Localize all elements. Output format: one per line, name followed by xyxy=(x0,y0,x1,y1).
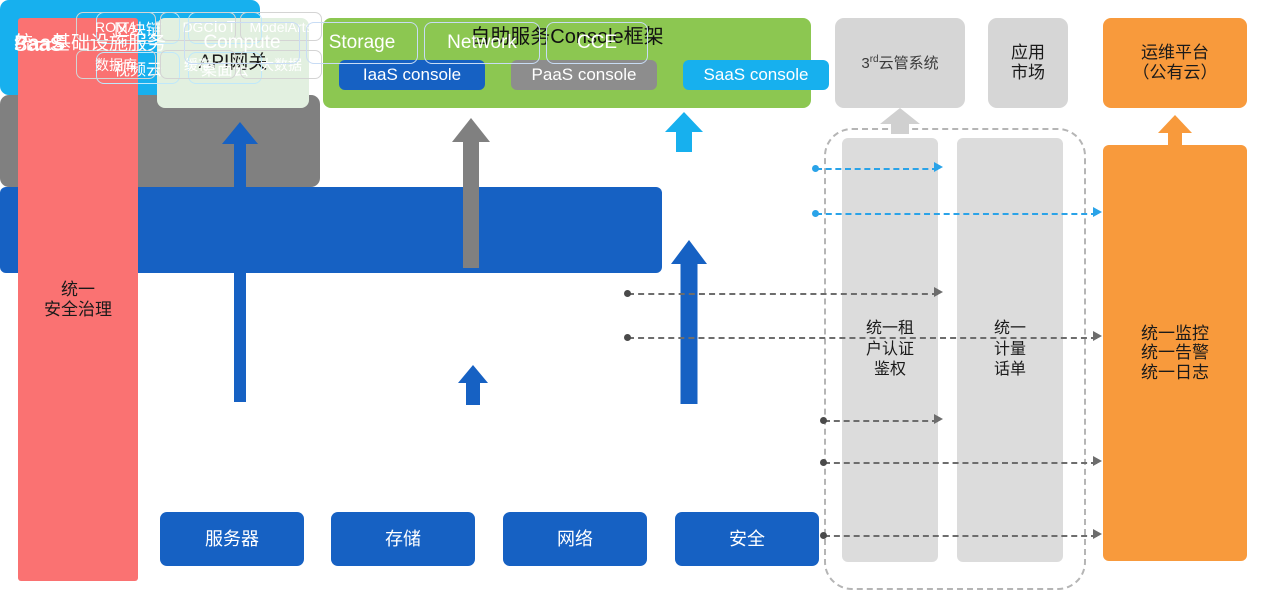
ops-top-line-2: （公有云） xyxy=(1133,63,1218,83)
dashed-paas-to-ops xyxy=(628,337,1097,339)
unified-metering-column: 统一 计量 话单 xyxy=(957,138,1063,562)
hardware-box-security: 安全 xyxy=(675,512,819,566)
arrow-infra-to-saas xyxy=(671,240,707,404)
app-market-line-1: 应用 xyxy=(1011,43,1045,63)
third-party-cloud-mgmt-box: 3rd云管系统 xyxy=(835,18,965,108)
dashed-infra-to-ops xyxy=(824,462,1097,464)
auth-line-2: 户认证 xyxy=(866,340,914,361)
third-cloud-label: 3rd云管系统 xyxy=(861,54,938,72)
arrowhead-paas-ops xyxy=(1093,331,1102,341)
dot-hardware-ops xyxy=(820,532,827,539)
arrowhead-paas-auth xyxy=(934,287,943,297)
ops-platform-header-box: 运维平台 （公有云） xyxy=(1103,18,1247,108)
auth-line-3: 鉴权 xyxy=(866,360,914,381)
unified-tenant-auth-column: 统一租 户认证 鉴权 xyxy=(842,138,938,562)
hardware-box-network: 网络 xyxy=(503,512,647,566)
dot-paas-ops xyxy=(624,334,631,341)
meter-line-2: 计量 xyxy=(994,340,1026,361)
arrow-ops-body-to-ops-header xyxy=(1158,115,1192,145)
app-market-box: 应用 市场 xyxy=(988,18,1068,108)
ops-top-line-1: 运维平台 xyxy=(1133,43,1218,63)
app-market-line-2: 市场 xyxy=(1011,63,1045,83)
ops-body-line-1: 统一监控 xyxy=(1141,324,1209,344)
dot-saas-ops xyxy=(812,210,819,217)
dot-infra-ops xyxy=(820,459,827,466)
arrowhead-infra-ops xyxy=(1093,456,1102,466)
hardware-box-storage: 存储 xyxy=(331,512,475,566)
infrastructure-label: 统一基础设施服务 xyxy=(14,28,166,55)
infra-tag-network: Network xyxy=(424,22,540,64)
dashed-paas-to-auth xyxy=(628,293,938,295)
ops-body-line-3: 统一日志 xyxy=(1141,363,1209,383)
infra-tag-compute: Compute xyxy=(184,22,300,64)
arrow-middleware-to-third-cloud xyxy=(880,108,920,134)
security-line-1: 统一 xyxy=(44,280,112,300)
arrow-paas-to-console xyxy=(452,118,490,268)
arrowhead-hardware-ops xyxy=(1093,529,1102,539)
dashed-hardware-to-ops xyxy=(824,535,1097,537)
architecture-diagram: 统一 安全治理 API网关 自助服务Console框架 IaaS console… xyxy=(0,0,1265,605)
meter-line-3: 话单 xyxy=(994,360,1026,381)
infra-tag-cce: CCE xyxy=(546,22,648,64)
iaas-console-pill: IaaS console xyxy=(339,60,485,90)
security-governance-panel: 统一 安全治理 xyxy=(18,18,138,581)
paas-console-pill: PaaS console xyxy=(511,60,657,90)
dashed-infra-to-auth xyxy=(824,420,938,422)
dot-paas-auth xyxy=(624,290,631,297)
arrow-infra-to-paas xyxy=(458,365,488,405)
ops-platform-body-box: 统一监控 统一告警 统一日志 xyxy=(1103,145,1247,561)
arrowhead-infra-auth xyxy=(934,414,943,424)
dashed-saas-to-auth xyxy=(816,168,938,170)
dot-infra-auth xyxy=(820,417,827,424)
ops-body-line-2: 统一告警 xyxy=(1141,343,1209,363)
dot-saas-auth xyxy=(812,165,819,172)
arrow-saas-to-console xyxy=(665,112,703,152)
dashed-saas-to-ops xyxy=(816,213,1097,215)
hardware-box-server: 服务器 xyxy=(160,512,304,566)
arrowhead-saas-auth xyxy=(934,162,943,172)
infra-tag-storage: Storage xyxy=(306,22,418,64)
security-line-2: 安全治理 xyxy=(44,300,112,320)
arrow-infra-to-api-gateway xyxy=(222,122,258,402)
saas-console-pill: SaaS console xyxy=(683,60,829,90)
arrowhead-saas-ops xyxy=(1093,207,1102,217)
